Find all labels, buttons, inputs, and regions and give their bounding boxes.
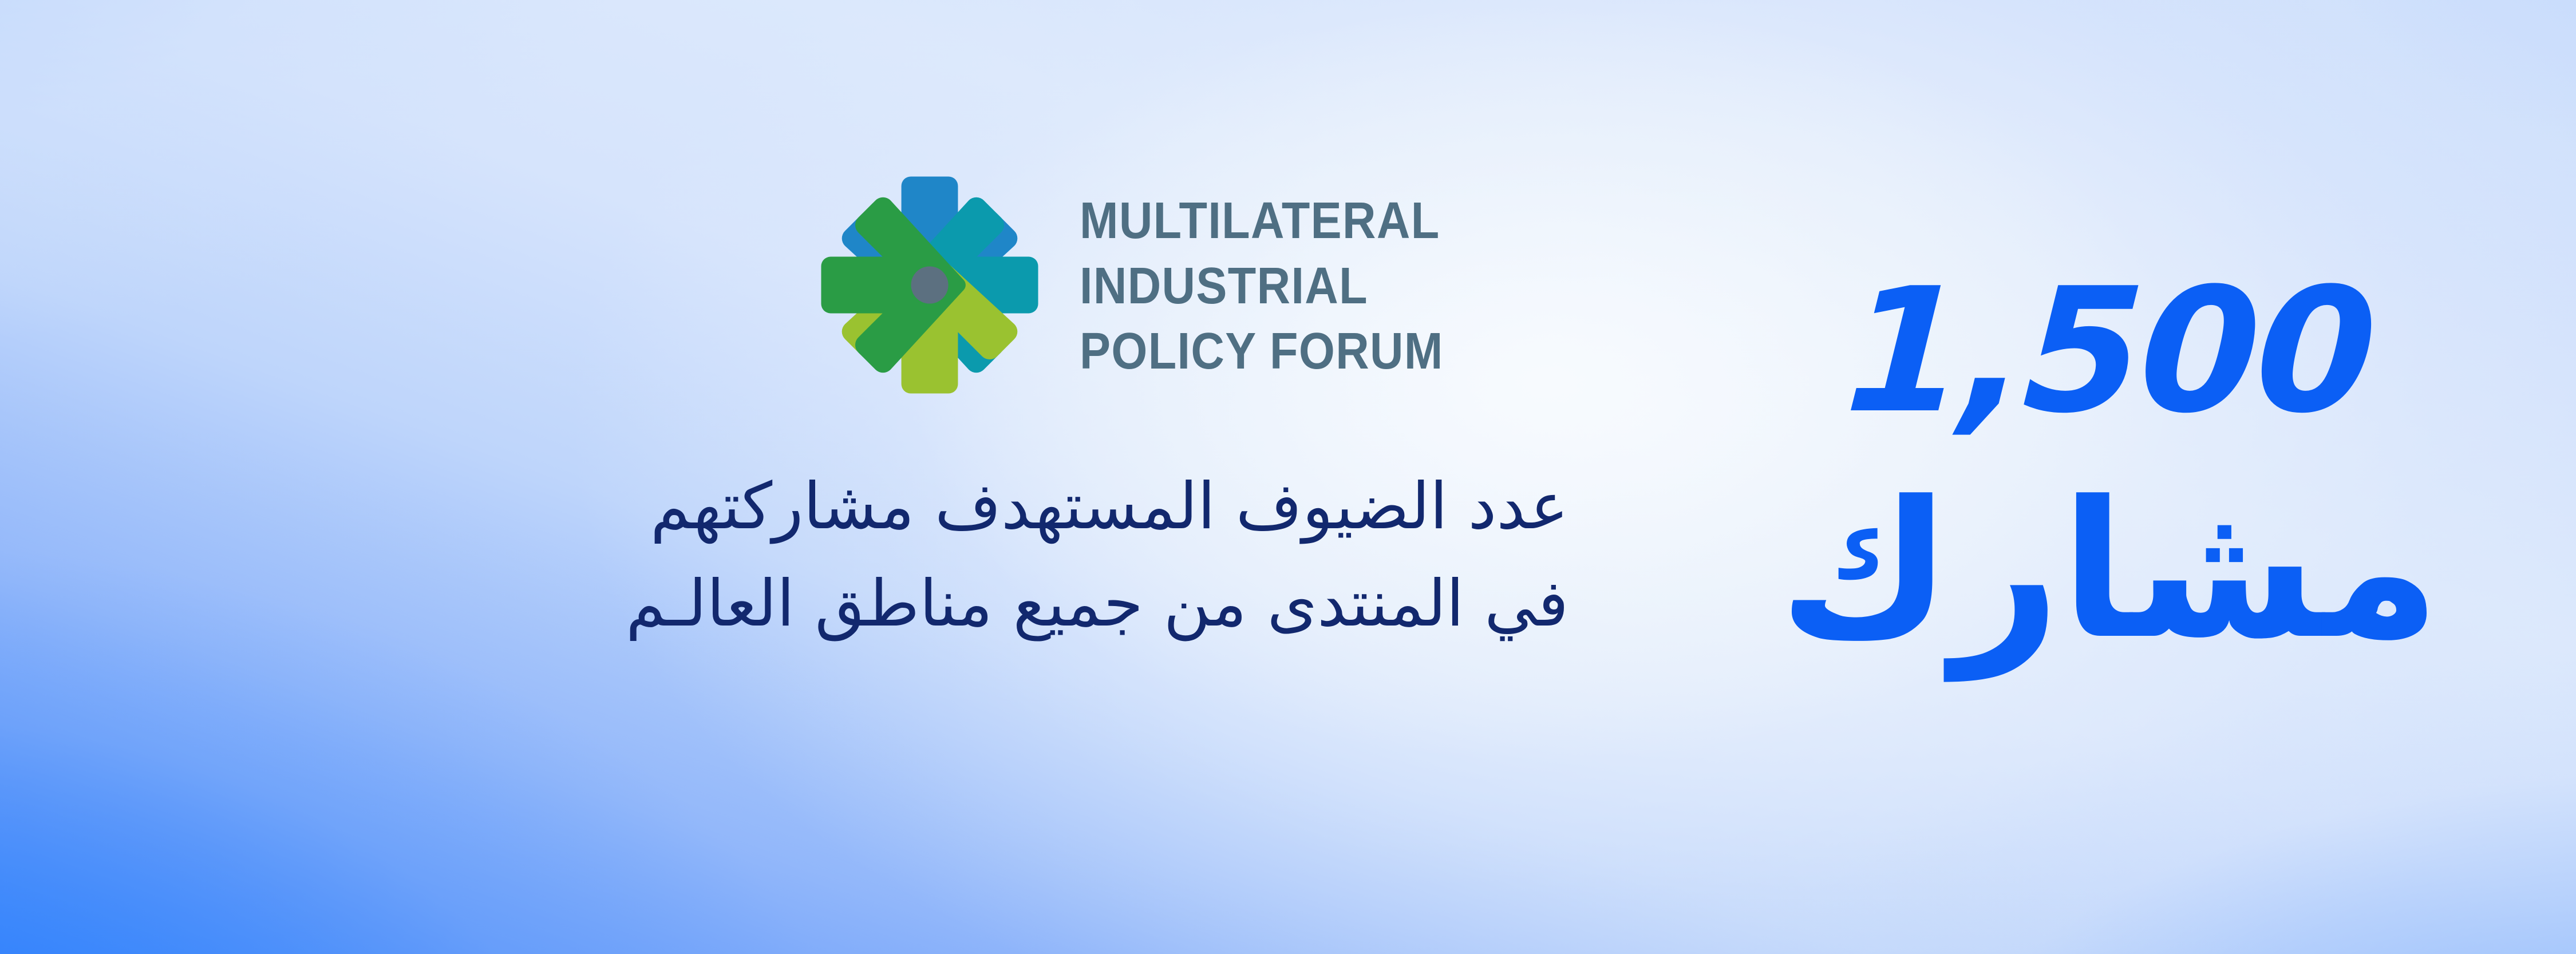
- pinwheel-logo-icon: [812, 167, 1048, 403]
- headline-line-1: عدد الضيوف المستهدف مشاركتهم: [0, 458, 1568, 555]
- headline-line-2: في المنتدى من جميع مناطق العالـم: [0, 555, 1568, 652]
- brand-and-headline-column: MULTILATERAL INDUSTRIAL POLICY FORUM عدد…: [0, 0, 1626, 954]
- participant-count-block: 1,500 مشارك: [1729, 269, 2490, 697]
- wordmark-line-3: POLICY FORUM: [1080, 320, 1444, 383]
- wordmark: MULTILATERAL INDUSTRIAL POLICY FORUM: [1080, 187, 1484, 383]
- wordmark-line-2: INDUSTRIAL: [1080, 255, 1444, 318]
- headline-block: عدد الضيوف المستهدف مشاركتهم في المنتدى …: [0, 458, 1568, 652]
- participants-stat-banner: MULTILATERAL INDUSTRIAL POLICY FORUM عدد…: [0, 0, 2576, 954]
- participant-count-label: مشارك: [1729, 444, 2490, 697]
- logo-lockup: MULTILATERAL INDUSTRIAL POLICY FORUM: [812, 167, 1484, 403]
- logo-hub-circle: [911, 266, 948, 303]
- participant-count-number: 1,500: [1724, 269, 2494, 434]
- wordmark-line-1: MULTILATERAL: [1080, 190, 1444, 253]
